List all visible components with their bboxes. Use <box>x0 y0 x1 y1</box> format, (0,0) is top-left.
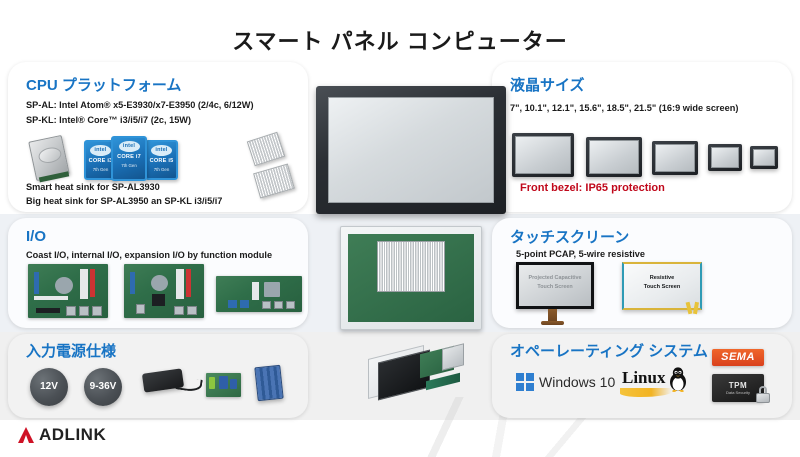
pcb-socket <box>151 275 168 291</box>
pcap-label-line-1: Projected Capacitive <box>519 274 591 283</box>
touchscreen-heading: タッチスクリーン <box>510 226 629 247</box>
adlink-triangle-logo-icon <box>18 427 34 443</box>
lcd-thumbnail-15-6 <box>652 141 698 175</box>
dc-power-board-icon <box>206 373 241 397</box>
battery-icon <box>254 365 283 402</box>
padlock-body <box>756 393 770 403</box>
intel-oval-label: intel <box>90 145 111 156</box>
pcb-blue-slot <box>228 300 237 308</box>
pcb-port <box>136 304 145 314</box>
windows-tile <box>526 383 534 391</box>
lcd-size-heading: 液晶サイズ <box>510 74 585 95</box>
windows-tile <box>516 383 524 391</box>
pcb-connector <box>186 269 191 297</box>
exploded-panel-pc-image <box>368 344 478 408</box>
cpu-note-1: Smart heat sink for SP-AL3930 <box>26 182 160 192</box>
panel-pc-screen <box>328 97 494 203</box>
io-board-1 <box>28 264 108 318</box>
pcb-slot <box>80 269 88 299</box>
lcd-thumbnail-18-5 <box>586 137 642 177</box>
lcd-sizes-line: 7", 10.1", 12.1", 15.6", 18.5", 21.5" (1… <box>510 103 738 113</box>
resistive-label-line-2: Touch Screen <box>624 283 700 292</box>
pcb-port <box>274 301 283 309</box>
intel-oval-label: intel <box>119 141 140 152</box>
pcb-blue-slot <box>130 272 135 294</box>
board-capacitor <box>219 376 228 389</box>
panel-pc-rear-image <box>340 226 482 330</box>
pcb-port <box>66 306 76 316</box>
lcd-thumbnail-10-1 <box>750 146 778 169</box>
resistive-label-line-1: Resistive <box>624 274 700 283</box>
windows-label: Windows 10 <box>539 374 615 390</box>
power-input-heading: 入力電源仕様 <box>26 340 116 361</box>
windows-tile <box>516 373 524 381</box>
pcb-socket <box>264 282 280 297</box>
pcb-cpu-chip <box>152 294 165 306</box>
slide-canvas: スマート パネル コンピューター CPU プラットフォーム SP-AL: Int… <box>0 0 800 457</box>
power-9-36v-badge: 9-36V <box>84 368 122 406</box>
pcb-port <box>79 306 89 316</box>
lcd-screen <box>711 147 739 168</box>
badge-line-1: CORE i5 <box>147 157 176 166</box>
pcb-port <box>187 306 197 315</box>
pcb-socket <box>55 277 73 294</box>
cpu-line-1: SP-AL: Intel Atom® x5-E3930/x7-E3950 (2/… <box>26 100 254 110</box>
lcd-thumbnail-12-1 <box>708 144 742 171</box>
cpu-line-2: SP-KL: Intel® Core™ i3/i5/i7 (2c, 15W) <box>26 115 191 125</box>
pcb-slot <box>176 269 184 299</box>
pcb-ram-slot <box>34 296 68 300</box>
io-board-2 <box>124 264 204 318</box>
badge-line-2: 7th Gen <box>113 162 145 169</box>
adlink-brand-name: ADLINK <box>39 425 106 445</box>
pcb-blue-slot <box>34 272 39 294</box>
pcap-touch-screen-image: Projected Capacitive Touch Screen <box>516 262 594 309</box>
lcd-screen <box>515 136 571 174</box>
touchscreen-description: 5-point PCAP, 5-wire resistive <box>516 249 645 259</box>
padlock-icon <box>756 386 770 403</box>
badge-line-2: 7th Gen <box>147 166 176 173</box>
front-bezel-note: Front bezel: IP65 protection <box>520 182 665 194</box>
intel-core-i5-badge-icon: intel CORE i5 7th Gen <box>145 140 178 180</box>
exploded-module <box>442 343 464 370</box>
stylus-icon <box>686 302 704 316</box>
cpu-note-2: Big heat sink for SP-AL3950 an SP-KL i3/… <box>26 196 222 206</box>
io-description: Coast I/O, internal I/O, expansion I/O b… <box>26 250 272 260</box>
adlink-logo: ADLINK <box>18 425 106 445</box>
rear-heat-sink <box>377 241 444 292</box>
lcd-screen <box>589 140 639 174</box>
board-capacitor <box>230 379 237 389</box>
lcd-thumbnail-21-5 <box>512 133 574 177</box>
page-title: スマート パネル コンピューター <box>0 24 800 56</box>
pcb-port <box>262 301 271 309</box>
intel-oval-label: intel <box>151 145 172 156</box>
pcb-slot <box>252 282 259 300</box>
pcb-port <box>286 301 295 309</box>
pcb-port <box>174 306 184 315</box>
pcb-blue-slot <box>240 300 249 308</box>
pcap-stand-base <box>541 321 564 325</box>
windows-logo-icon <box>516 373 534 391</box>
panel-pc-front-image <box>316 86 506 214</box>
io-heading: I/O <box>26 228 46 245</box>
lcd-screen <box>753 149 775 166</box>
sema-logo-icon: SEMA <box>712 349 764 366</box>
power-12v-badge: 12V <box>30 368 68 406</box>
intel-core-i7-badge-icon: intel CORE i7 7th Gen <box>111 136 147 181</box>
linux-label: Linux <box>622 368 665 388</box>
windows-tile <box>526 373 534 381</box>
lcd-screen <box>655 144 695 172</box>
operating-system-heading: オペーレーティング システム <box>510 340 708 361</box>
board-component <box>209 377 215 389</box>
pcb-connector <box>90 269 95 297</box>
pcb-port <box>92 306 102 316</box>
tux-penguin-icon <box>668 366 688 392</box>
pcap-label-line-2: Touch Screen <box>519 283 591 292</box>
io-board-3 <box>216 276 302 312</box>
badge-line-1: CORE i7 <box>113 153 145 162</box>
cpu-platform-heading: CPU プラットフォーム <box>26 74 181 95</box>
pcb-chip <box>36 308 60 313</box>
